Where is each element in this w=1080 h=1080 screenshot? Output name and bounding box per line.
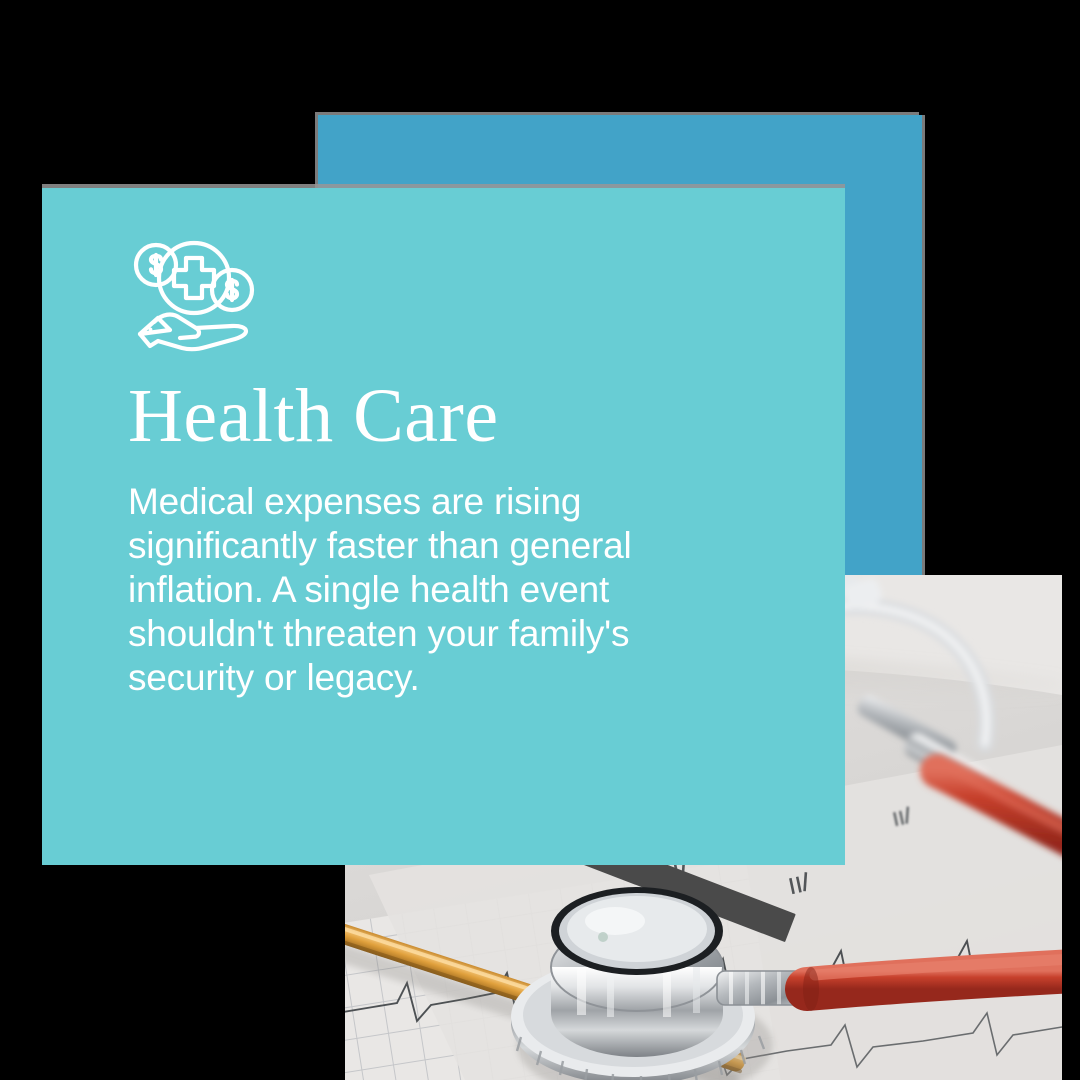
- hand-fingers-icon: [154, 315, 199, 338]
- medical-cross-icon: [174, 258, 214, 298]
- slide-canvas: Health Care Medical expenses are rising …: [0, 0, 1080, 1080]
- cuff-dot-icon: [149, 328, 153, 332]
- hand-holding-medical-cross-with-coins-icon: [128, 234, 258, 352]
- page-title: Health Care: [128, 378, 805, 454]
- health-care-card: Health Care Medical expenses are rising …: [42, 188, 845, 865]
- card-content: Health Care Medical expenses are rising …: [128, 234, 805, 700]
- card-description: Medical expenses are rising significantl…: [128, 480, 688, 700]
- icon-graphic: [128, 234, 258, 352]
